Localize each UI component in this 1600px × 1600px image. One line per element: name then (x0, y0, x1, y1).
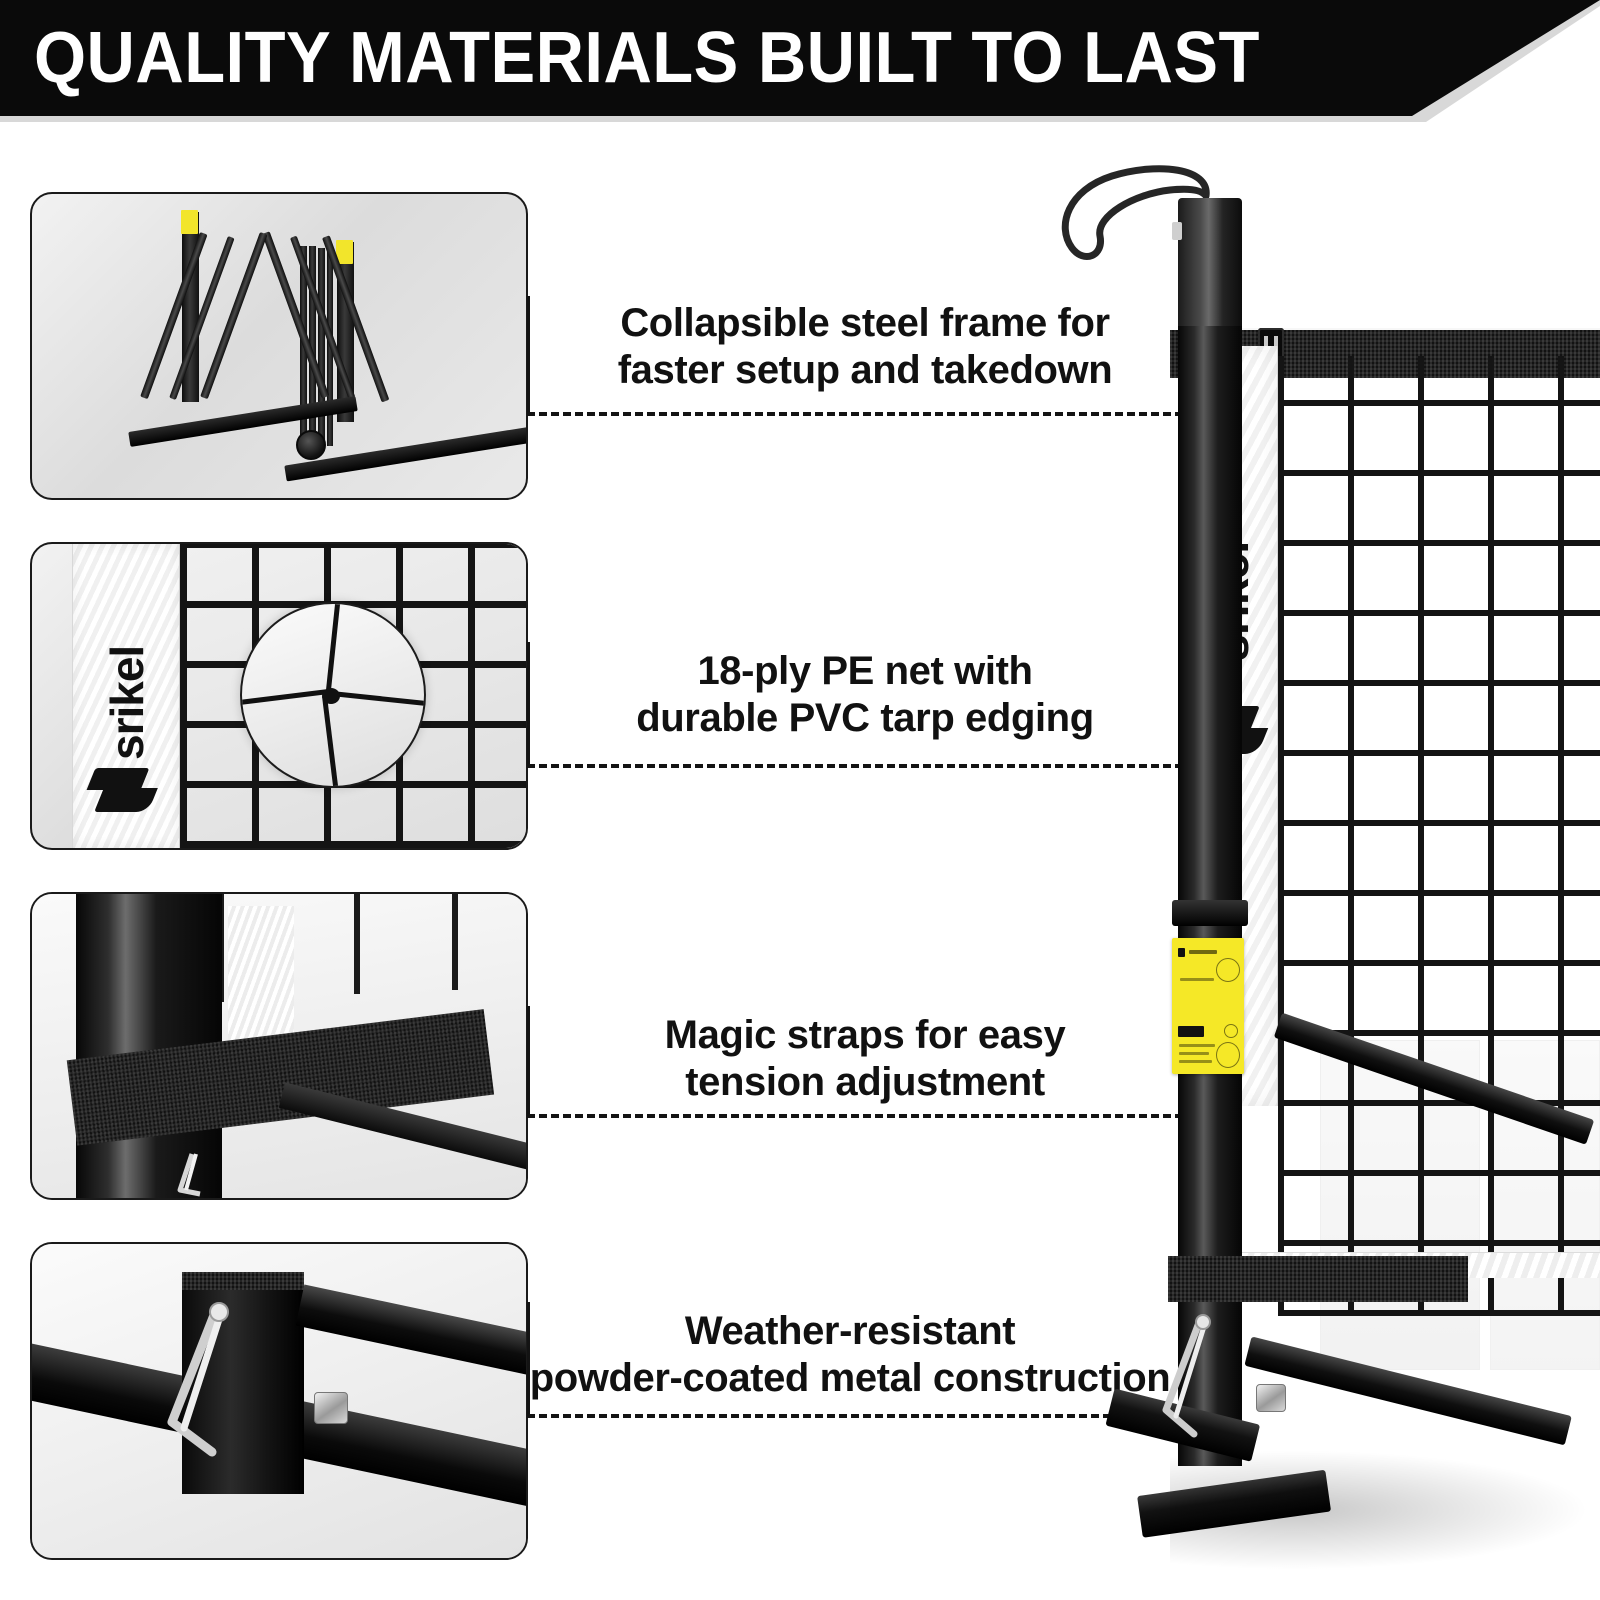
velcro-bottom-strap (1168, 1256, 1468, 1302)
page-title: QUALITY MATERIALS BUILT TO LAST (34, 22, 1260, 94)
thumbnail-photo-collapsible-frame (32, 194, 526, 498)
leader-tick-4 (527, 1302, 530, 1414)
post-collar (1172, 900, 1248, 926)
srikel-s-mark-icon (91, 760, 153, 818)
leader-tick-3 (527, 1006, 530, 1114)
cap-pin (1172, 222, 1182, 240)
r-clip-pin-large-icon (150, 1302, 234, 1460)
pvc-tarp-band: srikel (72, 544, 180, 848)
bg-net-cord-3 (452, 894, 458, 990)
knot-strand-right (330, 691, 426, 706)
net-knot-magnifier (240, 602, 426, 788)
feature-thumbnail-powder-coated (30, 1242, 528, 1560)
transport-wheel (296, 430, 326, 460)
base-r-clip-icon (1148, 1312, 1218, 1442)
knot-strand-left (242, 688, 334, 704)
yellow-warning-label (1172, 938, 1244, 1074)
scissor-arm-3 (200, 232, 267, 399)
hex-bolt (314, 1392, 348, 1424)
prohibition-icon (1224, 1024, 1238, 1038)
main-product-photo: srikel (1020, 160, 1600, 1600)
thumbnail-photo-powder-coated (32, 1244, 526, 1558)
header-banner: QUALITY MATERIALS BUILT TO LAST (0, 0, 1600, 122)
strap-end-top (182, 1272, 304, 1290)
feature-thumbnail-collapsible-frame (30, 192, 528, 500)
scissor-arm-5 (169, 236, 234, 400)
warning-body-text-4 (1179, 1060, 1212, 1063)
warning-pictogram-1-icon (1216, 958, 1240, 982)
r-clip-svg (170, 1152, 210, 1198)
post-warning-tag-left (181, 210, 198, 234)
warning-body-text-3 (1179, 1052, 1209, 1055)
knot-center (322, 688, 340, 704)
warning-triangle-icon (1178, 948, 1185, 957)
base-hex-bolt (1256, 1384, 1286, 1412)
bg-net-cord-2 (354, 894, 360, 994)
knot-strand-down (322, 696, 339, 788)
base-r-clip-svg (1148, 1312, 1218, 1442)
knot-strand-up (325, 604, 340, 700)
feature-thumbnail-pe-net: srikel (30, 542, 528, 850)
net-grid-lines (1278, 356, 1600, 1316)
floor-shadow (1170, 1450, 1590, 1570)
post-cap (1178, 198, 1242, 326)
warning-heading-text (1189, 950, 1217, 954)
banner-bar: QUALITY MATERIALS BUILT TO LAST (0, 0, 1600, 116)
danger-badge (1178, 1026, 1204, 1037)
warning-body-text-2 (1179, 1044, 1215, 1047)
r-clip-large-svg (150, 1302, 234, 1460)
infographic-canvas: QUALITY MATERIALS BUILT TO LAST (0, 0, 1600, 1600)
brand-lockup: srikel (99, 600, 155, 760)
r-clip-pin-icon (170, 1152, 210, 1198)
net-mesh-main (1278, 356, 1600, 1316)
feature-thumbnail-magic-straps (30, 892, 528, 1200)
leader-tick-1 (527, 296, 530, 412)
thumbnail-photo-pe-net: srikel (32, 544, 526, 848)
warning-pictogram-2-icon (1216, 1042, 1240, 1068)
brand-name: srikel (100, 646, 154, 760)
warning-body-text-1 (1180, 978, 1214, 981)
thumbnail-photo-magic-straps (32, 894, 526, 1198)
leader-tick-2 (527, 642, 530, 764)
